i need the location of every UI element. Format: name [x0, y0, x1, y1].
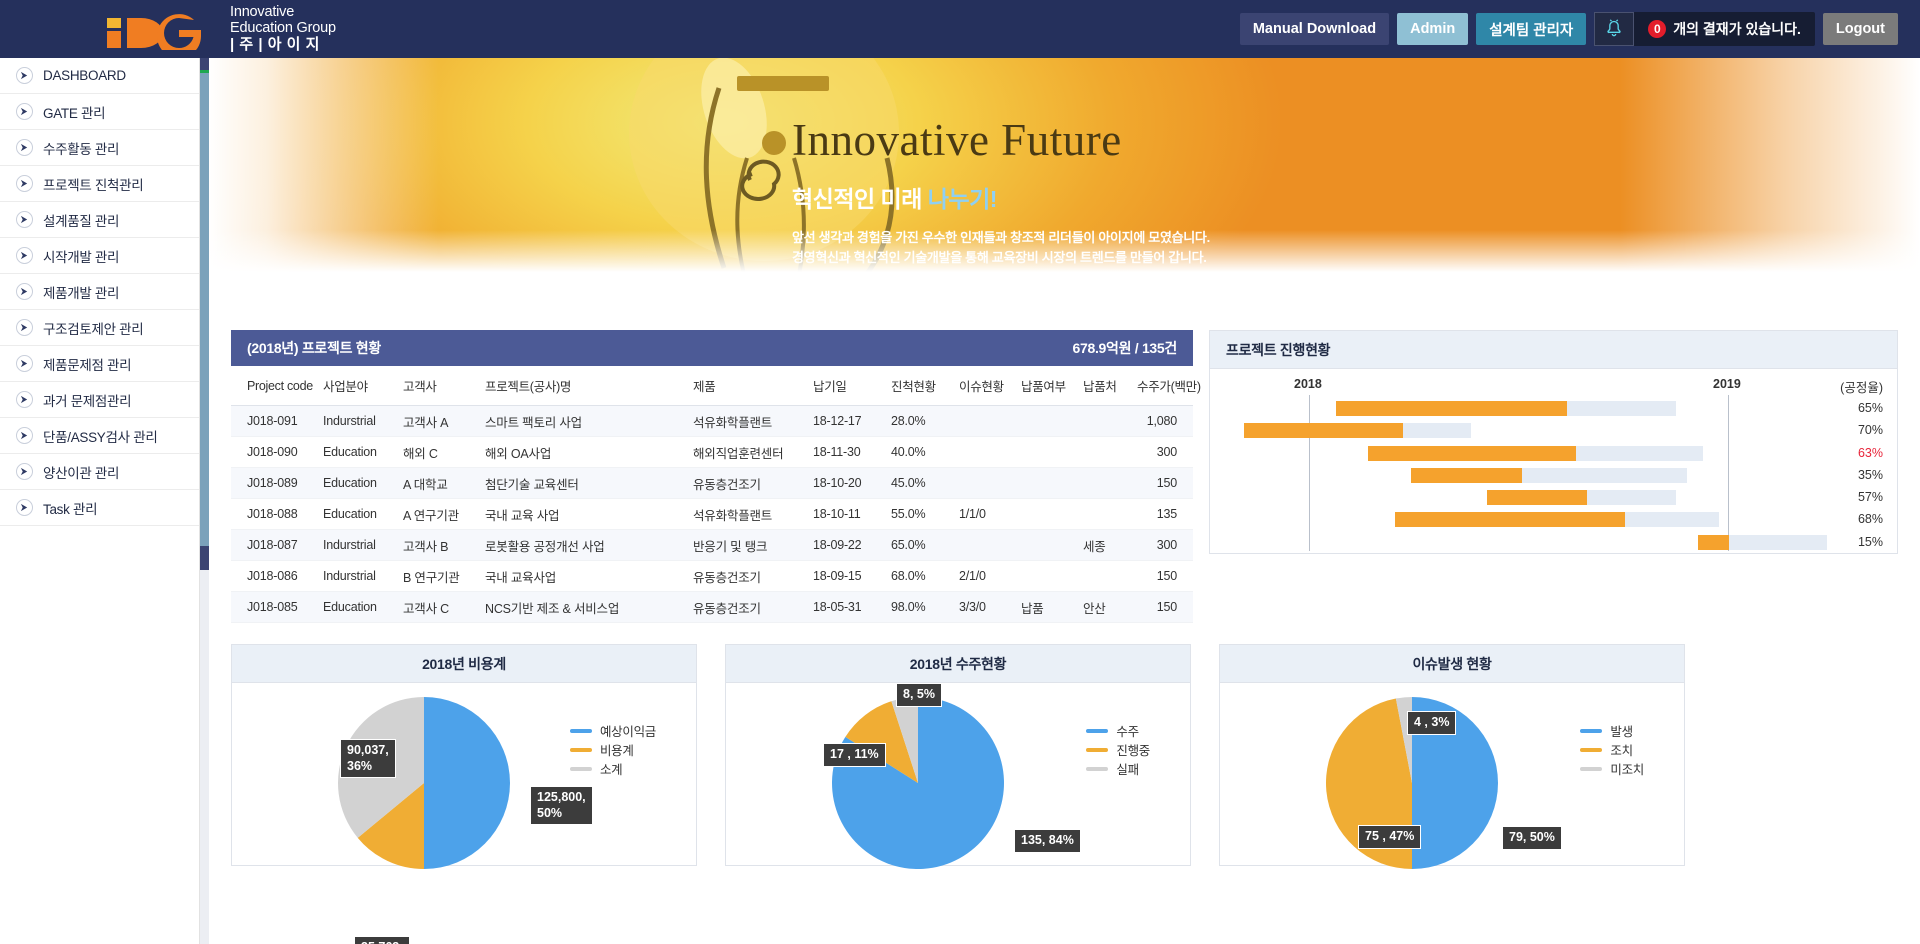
project-col-10: 수주가(백만) [1137, 366, 1193, 406]
sidebar-item-label: 과거 문제점관리 [43, 390, 131, 410]
sidebar-item-label: 구조검토제안 관리 [43, 318, 143, 338]
banner-description: 앞선 생각과 경험을 가진 우수한 인재들과 창조적 리더들이 아이지에 모였습… [792, 228, 1210, 268]
gantt-progress-fill [1411, 468, 1521, 483]
table-row[interactable]: J018-088EducationA 연구기관국내 교육 사업석유화학플랜트18… [231, 499, 1193, 530]
cell-due: 18-10-11 [813, 499, 891, 530]
cell-product: 유동층건조기 [693, 592, 813, 623]
chevron-right-icon [16, 355, 33, 372]
legend-label: 소계 [600, 759, 622, 778]
issue-pie-body: 79, 50%75 , 47%4 , 3%발생조치미조치 [1220, 683, 1684, 866]
cell-code: J018-091 [231, 406, 323, 437]
legend-swatch-icon [1580, 729, 1602, 733]
cell-dest [1083, 406, 1137, 437]
project-panel-header: (2018년) 프로젝트 현황 678.9억원 / 135건 [231, 330, 1193, 366]
approval-notice: 0 개의 결재가 있습니다. [1594, 12, 1815, 46]
gantt-chart: 2018 2019 (공정율) 65%70%63%35%57%68%15% [1210, 369, 1897, 555]
chevron-right-icon [16, 67, 33, 84]
scrollbar-thumb-bottom-cap [200, 546, 209, 570]
legend-item-1[interactable]: 진행중 [1086, 740, 1150, 759]
pie-slice-label-0: 125,800, 50% [530, 786, 593, 825]
cell-issue [959, 468, 1021, 499]
sidebar-nav: DASHBOARDGATE 관리수주활동 관리프로젝트 진척관리설계품질 관리시… [0, 58, 200, 944]
pie-slice-label-1: 17 , 11% [823, 743, 886, 767]
approval-notice-text: 개의 결재가 있습니다. [1673, 19, 1801, 39]
pie-slice-label-1: 35,763, 14% [354, 936, 410, 944]
cell-dest [1083, 561, 1137, 592]
table-row[interactable]: J018-087Indurstrial고객사 B로봇활용 공정개선 사업반응기 … [231, 530, 1193, 561]
project-col-4: 제품 [693, 366, 813, 406]
legend-swatch-icon [1086, 767, 1108, 771]
gantt-percent-label: 68% [1858, 512, 1883, 526]
project-col-1: 사업분야 [323, 366, 403, 406]
sidebar-item-4[interactable]: 설계품질 관리 [0, 202, 199, 238]
project-panel-summary: 678.9억원 / 135건 [1072, 338, 1177, 358]
logo-line-2: Education Group [230, 20, 336, 36]
gantt-row-4: 57% [1210, 486, 1897, 508]
banner-subtitle-highlight: 나누기! [928, 186, 997, 212]
cell-delivered [1021, 530, 1083, 561]
cell-delivered [1021, 437, 1083, 468]
issue-pie-title: 이슈발생 현황 [1412, 654, 1491, 674]
sidebar-item-label: DASHBOARD [43, 68, 126, 83]
cell-code: J018-088 [231, 499, 323, 530]
chevron-right-icon [16, 211, 33, 228]
project-col-5: 납기일 [813, 366, 891, 406]
cell-price: 150 [1137, 592, 1193, 623]
sidebar-item-12[interactable]: Task 관리 [0, 490, 199, 526]
sidebar-item-label: 양산이관 관리 [43, 462, 119, 482]
legend-item-2[interactable]: 소계 [570, 759, 656, 778]
legend-item-1[interactable]: 조치 [1580, 740, 1644, 759]
legend-swatch-icon [570, 729, 592, 733]
issue-pie-panel: 이슈발생 현황 79, 50%75 , 47%4 , 3%발생조치미조치 [1219, 644, 1685, 866]
cell-issue [959, 530, 1021, 561]
sidebar-item-9[interactable]: 과거 문제점관리 [0, 382, 199, 418]
cell-delivered [1021, 499, 1083, 530]
table-row[interactable]: J018-086IndurstrialB 연구기관국내 교육사업유동층건조기18… [231, 561, 1193, 592]
cell-price: 150 [1137, 468, 1193, 499]
cell-project: 스마트 팩토리 사업 [485, 406, 693, 437]
cell-due: 18-05-31 [813, 592, 891, 623]
legend-swatch-icon [1086, 729, 1108, 733]
logout-button[interactable]: Logout [1823, 13, 1898, 45]
cell-code: J018-086 [231, 561, 323, 592]
cell-price: 150 [1137, 561, 1193, 592]
cell-client: A 대학교 [403, 468, 485, 499]
cell-progress: 40.0% [891, 437, 959, 468]
cell-project: 첨단기술 교육센터 [485, 468, 693, 499]
banner-subtitle: 혁신적인 미래 나누기! [792, 180, 1210, 214]
table-row[interactable]: J018-089EducationA 대학교첨단기술 교육센터유동층건조기18-… [231, 468, 1193, 499]
chevron-right-icon [16, 103, 33, 120]
pie-legend: 예상이익금비용계소계 [570, 721, 656, 778]
sidebar-item-8[interactable]: 제품문제점 관리 [0, 346, 199, 382]
gantt-panel-header: 프로젝트 진행현황 [1210, 331, 1897, 369]
cell-dest [1083, 468, 1137, 499]
sidebar-item-2[interactable]: 수주활동 관리 [0, 130, 199, 166]
cell-code: J018-089 [231, 468, 323, 499]
cell-field: Indurstrial [323, 406, 403, 437]
approval-count-badge: 0 [1648, 20, 1666, 38]
order-pie-body: 135, 84%17 , 11%8, 5%수주진행중실패 [726, 683, 1190, 866]
manual-download-button[interactable]: Manual Download [1240, 13, 1389, 45]
sidebar-item-label: 시작개발 관리 [43, 246, 119, 266]
gantt-row-1: 70% [1210, 419, 1897, 441]
order-pie-header: 2018년 수주현황 [726, 645, 1190, 683]
sidebar-item-6[interactable]: 제품개발 관리 [0, 274, 199, 310]
table-row[interactable]: J018-085Education고객사 CNCS기반 제조 & 서비스업유동층… [231, 592, 1193, 623]
banner-title: Innovative Future [792, 118, 1210, 163]
brand-logo[interactable]: Innovative Education Group | 주 | 아 이 지 [105, 4, 336, 54]
project-table-body: J018-091Indurstrial고객사 A스마트 팩토리 사업석유화학플랜… [231, 406, 1193, 623]
pie-slice-label-1: 75 , 47% [1358, 825, 1421, 849]
logo-line-1: Innovative [230, 4, 336, 20]
cell-issue: 1/1/0 [959, 499, 1021, 530]
sidebar-item-10[interactable]: 단품/ASSY검사 관리 [0, 418, 199, 454]
cell-delivered: 납품 [1021, 592, 1083, 623]
project-col-3: 프로젝트(공사)명 [485, 366, 693, 406]
legend-item-2[interactable]: 미조치 [1580, 759, 1644, 778]
legend-label: 미조치 [1610, 759, 1644, 778]
chevron-right-icon [16, 139, 33, 156]
gantt-rows: 65%70%63%35%57%68%15% [1210, 397, 1897, 553]
top-actions: Manual Download Admin 설계팀 관리자 0 개의 결재가 있… [1232, 0, 1898, 58]
scrollbar-thumb-top-cap [200, 58, 209, 70]
gantt-row-5: 68% [1210, 508, 1897, 530]
sidebar-scrollbar[interactable] [200, 58, 209, 944]
cell-client: 고객사 B [403, 530, 485, 561]
cost-pie-body: 125,800, 50%35,763, 14%90,037, 36%예상이익금비… [232, 683, 696, 866]
cell-issue [959, 437, 1021, 468]
cell-project: 국내 교육사업 [485, 561, 693, 592]
sidebar-item-11[interactable]: 양산이관 관리 [0, 454, 199, 490]
project-panel-title: (2018년) 프로젝트 현황 [247, 338, 381, 358]
chevron-right-icon [16, 499, 33, 516]
gantt-year-end: 2019 [1713, 377, 1741, 391]
gantt-percent-label: 63% [1858, 446, 1883, 460]
gantt-year-start: 2018 [1294, 377, 1322, 391]
cell-project: 로봇활용 공정개선 사업 [485, 530, 693, 561]
project-col-9: 납품처 [1083, 366, 1137, 406]
gantt-percent-label: 57% [1858, 490, 1883, 504]
idg-logo-icon [105, 8, 220, 50]
gantt-progress-fill [1368, 446, 1576, 461]
legend-label: 진행중 [1116, 740, 1150, 759]
cell-client: 해외 C [403, 437, 485, 468]
issue-pie-header: 이슈발생 현황 [1220, 645, 1684, 683]
gantt-percent-label: 15% [1858, 535, 1883, 549]
design-team-admin-button[interactable]: 설계팀 관리자 [1476, 13, 1586, 45]
cell-product: 유동층건조기 [693, 561, 813, 592]
project-col-8: 납품여부 [1021, 366, 1083, 406]
legend-item-2[interactable]: 실패 [1086, 759, 1150, 778]
cell-progress: 45.0% [891, 468, 959, 499]
legend-item-1[interactable]: 비용계 [570, 740, 656, 759]
banner-desc-line-2: 경영혁신과 혁신적인 기술개발을 통해 교육장비 시장의 트렌드를 만들어 갑니… [792, 248, 1210, 268]
cell-project: 해외 OA사업 [485, 437, 693, 468]
sidebar-item-label: 수주활동 관리 [43, 138, 119, 158]
project-col-7: 이슈현황 [959, 366, 1021, 406]
cell-product: 반응기 및 탱크 [693, 530, 813, 561]
cell-issue: 2/1/0 [959, 561, 1021, 592]
sidebar-item-label: 설계품질 관리 [43, 210, 119, 230]
legend-label: 예상이익금 [600, 721, 656, 740]
cost-pie-header: 2018년 비용계 [232, 645, 696, 683]
cell-dest [1083, 499, 1137, 530]
gantt-progress-fill [1244, 423, 1403, 438]
sidebar-item-3[interactable]: 프로젝트 진척관리 [0, 166, 199, 202]
cell-project: 국내 교육 사업 [485, 499, 693, 530]
logo-line-3: | 주 | 아 이 지 [230, 37, 336, 54]
cell-field: Indurstrial [323, 561, 403, 592]
cell-price: 1,080 [1137, 406, 1193, 437]
table-row[interactable]: J018-091Indurstrial고객사 A스마트 팩토리 사업석유화학플랜… [231, 406, 1193, 437]
cell-due: 18-10-20 [813, 468, 891, 499]
cell-delivered [1021, 406, 1083, 437]
pie-slice-label-2: 8, 5% [896, 683, 942, 707]
cell-dest: 세종 [1083, 530, 1137, 561]
chevron-right-icon [16, 427, 33, 444]
project-status-panel: (2018년) 프로젝트 현황 678.9억원 / 135건 Project c… [231, 330, 1193, 554]
legend-item-0[interactable]: 예상이익금 [570, 721, 656, 740]
hero-banner: Innovative Future 혁신적인 미래 나누기! 앞선 생각과 경험… [209, 58, 1920, 272]
chevron-right-icon [16, 319, 33, 336]
project-progress-panel: 프로젝트 진행현황 2018 2019 (공정율) 65%70%63%35%57… [1209, 330, 1898, 554]
project-table-header-row: Project code사업분야고객사프로젝트(공사)명제품납기일진척현황이슈현… [231, 366, 1193, 406]
gantt-rate-label: (공정율) [1840, 377, 1883, 396]
chevron-right-icon [16, 175, 33, 192]
chevron-right-icon [16, 247, 33, 264]
main-content: Innovative Future 혁신적인 미래 나누기! 앞선 생각과 경험… [209, 58, 1920, 944]
cell-price: 300 [1137, 530, 1193, 561]
gantt-progress-fill [1395, 512, 1625, 527]
cell-delivered [1021, 468, 1083, 499]
legend-swatch-icon [570, 748, 592, 752]
gantt-progress-fill [1698, 535, 1729, 550]
legend-swatch-icon [1580, 767, 1602, 771]
chevron-right-icon [16, 283, 33, 300]
legend-item-0[interactable]: 발생 [1580, 721, 1644, 740]
pie-legend: 수주진행중실패 [1086, 721, 1150, 778]
gantt-progress-fill [1336, 401, 1567, 416]
legend-label: 조치 [1610, 740, 1632, 759]
cell-field: Education [323, 592, 403, 623]
sidebar-item-7[interactable]: 구조검토제안 관리 [0, 310, 199, 346]
cost-pie-title: 2018년 비용계 [422, 654, 506, 674]
cell-progress: 68.0% [891, 561, 959, 592]
gantt-axis-header: 2018 2019 (공정율) [1210, 369, 1897, 397]
gantt-percent-label: 70% [1858, 423, 1883, 437]
sidebar-item-5[interactable]: 시작개발 관리 [0, 238, 199, 274]
cell-issue: 3/3/0 [959, 592, 1021, 623]
pie-legend: 발생조치미조치 [1580, 721, 1644, 778]
pie-slice-label-0: 135, 84% [1014, 829, 1081, 853]
cell-product: 석유화학플랜트 [693, 406, 813, 437]
top-header-bar: Innovative Education Group | 주 | 아 이 지 M… [0, 0, 1920, 58]
sidebar-item-label: Task 관리 [43, 498, 97, 518]
cell-progress: 98.0% [891, 592, 959, 623]
project-col-0: Project code [231, 366, 323, 406]
sidebar-item-0[interactable]: DASHBOARD [0, 58, 199, 94]
cell-price: 300 [1137, 437, 1193, 468]
gantt-row-2: 63% [1210, 442, 1897, 464]
cell-code: J018-090 [231, 437, 323, 468]
legend-swatch-icon [1086, 748, 1108, 752]
chevron-right-icon [16, 391, 33, 408]
cell-due: 18-12-17 [813, 406, 891, 437]
cell-progress: 28.0% [891, 406, 959, 437]
banner-subtitle-main: 혁신적인 미래 [792, 186, 928, 212]
cell-due: 18-09-15 [813, 561, 891, 592]
cell-progress: 55.0% [891, 499, 959, 530]
cell-dest [1083, 437, 1137, 468]
table-row[interactable]: J018-090Education해외 C해외 OA사업해외직업훈련센터18-1… [231, 437, 1193, 468]
cell-due: 18-09-22 [813, 530, 891, 561]
gantt-percent-label: 35% [1858, 468, 1883, 482]
project-col-6: 진척현황 [891, 366, 959, 406]
cell-code: J018-087 [231, 530, 323, 561]
cell-due: 18-11-30 [813, 437, 891, 468]
project-col-2: 고객사 [403, 366, 485, 406]
cell-dest: 안산 [1083, 592, 1137, 623]
cell-product: 해외직업훈련센터 [693, 437, 813, 468]
pie-chart-svg [324, 691, 524, 891]
cell-field: Education [323, 468, 403, 499]
legend-label: 실패 [1116, 759, 1138, 778]
cell-product: 유동층건조기 [693, 468, 813, 499]
cell-field: Indurstrial [323, 530, 403, 561]
project-table: Project code사업분야고객사프로젝트(공사)명제품납기일진척현황이슈현… [231, 366, 1193, 623]
cell-issue [959, 406, 1021, 437]
cell-client: 고객사 A [403, 406, 485, 437]
gantt-panel-title: 프로젝트 진행현황 [1226, 340, 1330, 360]
gantt-row-6: 15% [1210, 531, 1897, 553]
cell-client: B 연구기관 [403, 561, 485, 592]
gantt-row-0: 65% [1210, 397, 1897, 419]
legend-swatch-icon [1580, 748, 1602, 752]
legend-label: 수주 [1116, 721, 1138, 740]
sidebar-item-label: 단품/ASSY검사 관리 [43, 426, 157, 446]
pie-chart-svg [818, 691, 1018, 891]
cell-progress: 65.0% [891, 530, 959, 561]
admin-button[interactable]: Admin [1397, 13, 1468, 45]
cell-field: Education [323, 499, 403, 530]
order-pie-title: 2018년 수주현황 [910, 654, 1006, 674]
sidebar-active-indicator [200, 70, 209, 73]
sidebar-scrollbar-thumb[interactable] [200, 58, 209, 558]
cell-delivered [1021, 561, 1083, 592]
cell-code: J018-085 [231, 592, 323, 623]
banner-text-block: Innovative Future 혁신적인 미래 나누기! 앞선 생각과 경험… [792, 118, 1210, 268]
cell-client: 고객사 C [403, 592, 485, 623]
legend-label: 발생 [1610, 721, 1632, 740]
cell-field: Education [323, 437, 403, 468]
sidebar-item-label: 제품개발 관리 [43, 282, 119, 302]
gantt-percent-label: 65% [1858, 401, 1883, 415]
legend-label: 비용계 [600, 740, 634, 759]
cell-price: 135 [1137, 499, 1193, 530]
cell-project: NCS기반 제조 & 서비스업 [485, 592, 693, 623]
pie-slice-label-2: 4 , 3% [1407, 711, 1456, 735]
gantt-progress-fill [1487, 490, 1587, 505]
sidebar-item-label: 프로젝트 진척관리 [43, 174, 143, 194]
legend-swatch-icon [570, 767, 592, 771]
order-pie-panel: 2018년 수주현황 135, 84%17 , 11%8, 5%수주진행중실패 [725, 644, 1191, 866]
cell-client: A 연구기관 [403, 499, 485, 530]
bell-icon[interactable] [1594, 12, 1634, 46]
chevron-right-icon [16, 463, 33, 480]
cell-product: 석유화학플랜트 [693, 499, 813, 530]
gantt-row-3: 35% [1210, 464, 1897, 486]
cost-pie-panel: 2018년 비용계 125,800, 50%35,763, 14%90,037,… [231, 644, 697, 866]
banner-desc-line-1: 앞선 생각과 경험을 가진 우수한 인재들과 창조적 리더들이 아이지에 모였습… [792, 228, 1210, 248]
sidebar-item-1[interactable]: GATE 관리 [0, 94, 199, 130]
sidebar-item-label: GATE 관리 [43, 102, 105, 122]
pie-slice-label-0: 79, 50% [1502, 826, 1562, 850]
sidebar-item-label: 제품문제점 관리 [43, 354, 131, 374]
pie-slice-label-2: 90,037, 36% [340, 739, 396, 778]
legend-item-0[interactable]: 수주 [1086, 721, 1150, 740]
